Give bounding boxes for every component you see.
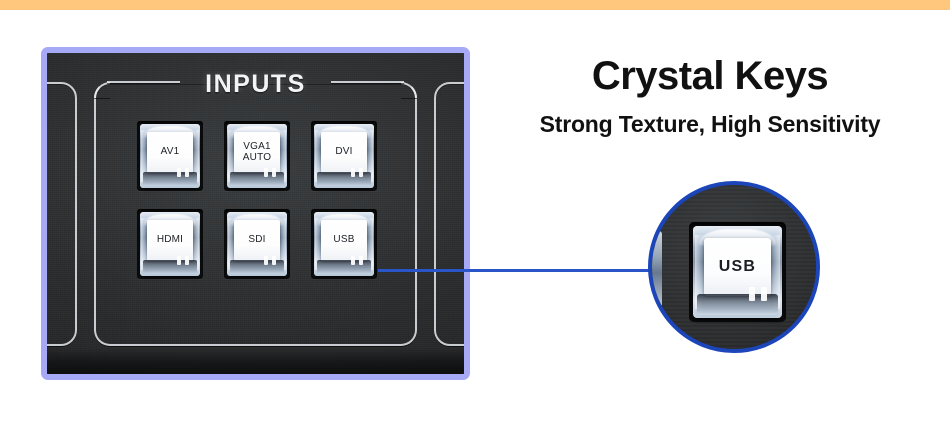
key-vga1-auto[interactable]: VGA1 AUTO bbox=[224, 121, 290, 191]
key-sdi[interactable]: SDI bbox=[224, 209, 290, 279]
magnified-keycap-notch-b bbox=[761, 287, 767, 301]
keycap-crystal: USB bbox=[314, 212, 374, 276]
keycap-notch-b bbox=[359, 256, 363, 265]
panel-bottom-bevel bbox=[47, 348, 464, 374]
magnified-key-legend: USB bbox=[719, 258, 756, 276]
magnifier-neighbor-key-sliver bbox=[648, 231, 662, 307]
keycap-notch-b bbox=[359, 168, 363, 177]
keycap-face: VGA1 AUTO bbox=[234, 132, 280, 173]
magnified-keycap-crystal: USB bbox=[693, 226, 782, 318]
page-subtitle: Strong Texture, High Sensitivity bbox=[480, 111, 940, 138]
keycap-crystal: AV1 bbox=[140, 124, 200, 188]
key-usb[interactable]: USB bbox=[311, 209, 377, 279]
keycap-crystal: DVI bbox=[314, 124, 374, 188]
keycap-notch-b bbox=[272, 256, 276, 265]
device-input-panel: INPUTS AV1 bbox=[41, 47, 470, 380]
magnified-key-usb: USB bbox=[689, 222, 786, 322]
keycap-notch-b bbox=[185, 168, 189, 177]
keycap-crystal: VGA1 AUTO bbox=[227, 124, 287, 188]
key-legend: VGA1 AUTO bbox=[243, 142, 271, 163]
keycap-crystal: SDI bbox=[227, 212, 287, 276]
key-legend: USB bbox=[333, 235, 354, 246]
page-title: Crystal Keys bbox=[480, 55, 940, 98]
keycap-notch-a bbox=[264, 168, 268, 177]
keycap-notch-a bbox=[351, 168, 355, 177]
inputs-section-label: INPUTS bbox=[47, 70, 464, 99]
key-hdmi[interactable]: HDMI bbox=[137, 209, 203, 279]
key-legend: AV1 bbox=[161, 147, 180, 158]
input-key-grid: AV1 VGA1 AUTO bbox=[137, 121, 377, 279]
keycap-notch-a bbox=[177, 168, 181, 177]
adjacent-frame-left bbox=[41, 82, 77, 346]
callout-leader-line bbox=[378, 269, 650, 272]
keycap-notch-b bbox=[185, 256, 189, 265]
keycap-face: DVI bbox=[321, 132, 367, 173]
keycap-notch-a bbox=[177, 256, 181, 265]
keycap-face: SDI bbox=[234, 220, 280, 261]
magnified-keycap-notch-a bbox=[749, 287, 755, 301]
magnified-key-callout: USB bbox=[648, 181, 820, 353]
adjacent-frame-right bbox=[434, 82, 470, 346]
keycap-notch-b bbox=[272, 168, 276, 177]
keycap-crystal: HDMI bbox=[140, 212, 200, 276]
key-legend: DVI bbox=[335, 147, 352, 158]
marketing-headings: Crystal Keys Strong Texture, High Sensit… bbox=[480, 55, 940, 138]
key-dvi[interactable]: DVI bbox=[311, 121, 377, 191]
keycap-notch-a bbox=[264, 256, 268, 265]
key-legend: HDMI bbox=[157, 235, 183, 246]
screenshot-stage: INPUTS AV1 bbox=[0, 0, 950, 423]
keycap-face: AV1 bbox=[147, 132, 193, 173]
top-accent-bar bbox=[0, 0, 950, 10]
keycap-face: USB bbox=[321, 220, 367, 261]
keycap-notch-a bbox=[351, 256, 355, 265]
key-av1[interactable]: AV1 bbox=[137, 121, 203, 191]
key-legend: SDI bbox=[248, 235, 265, 246]
keycap-face: HDMI bbox=[147, 220, 193, 261]
